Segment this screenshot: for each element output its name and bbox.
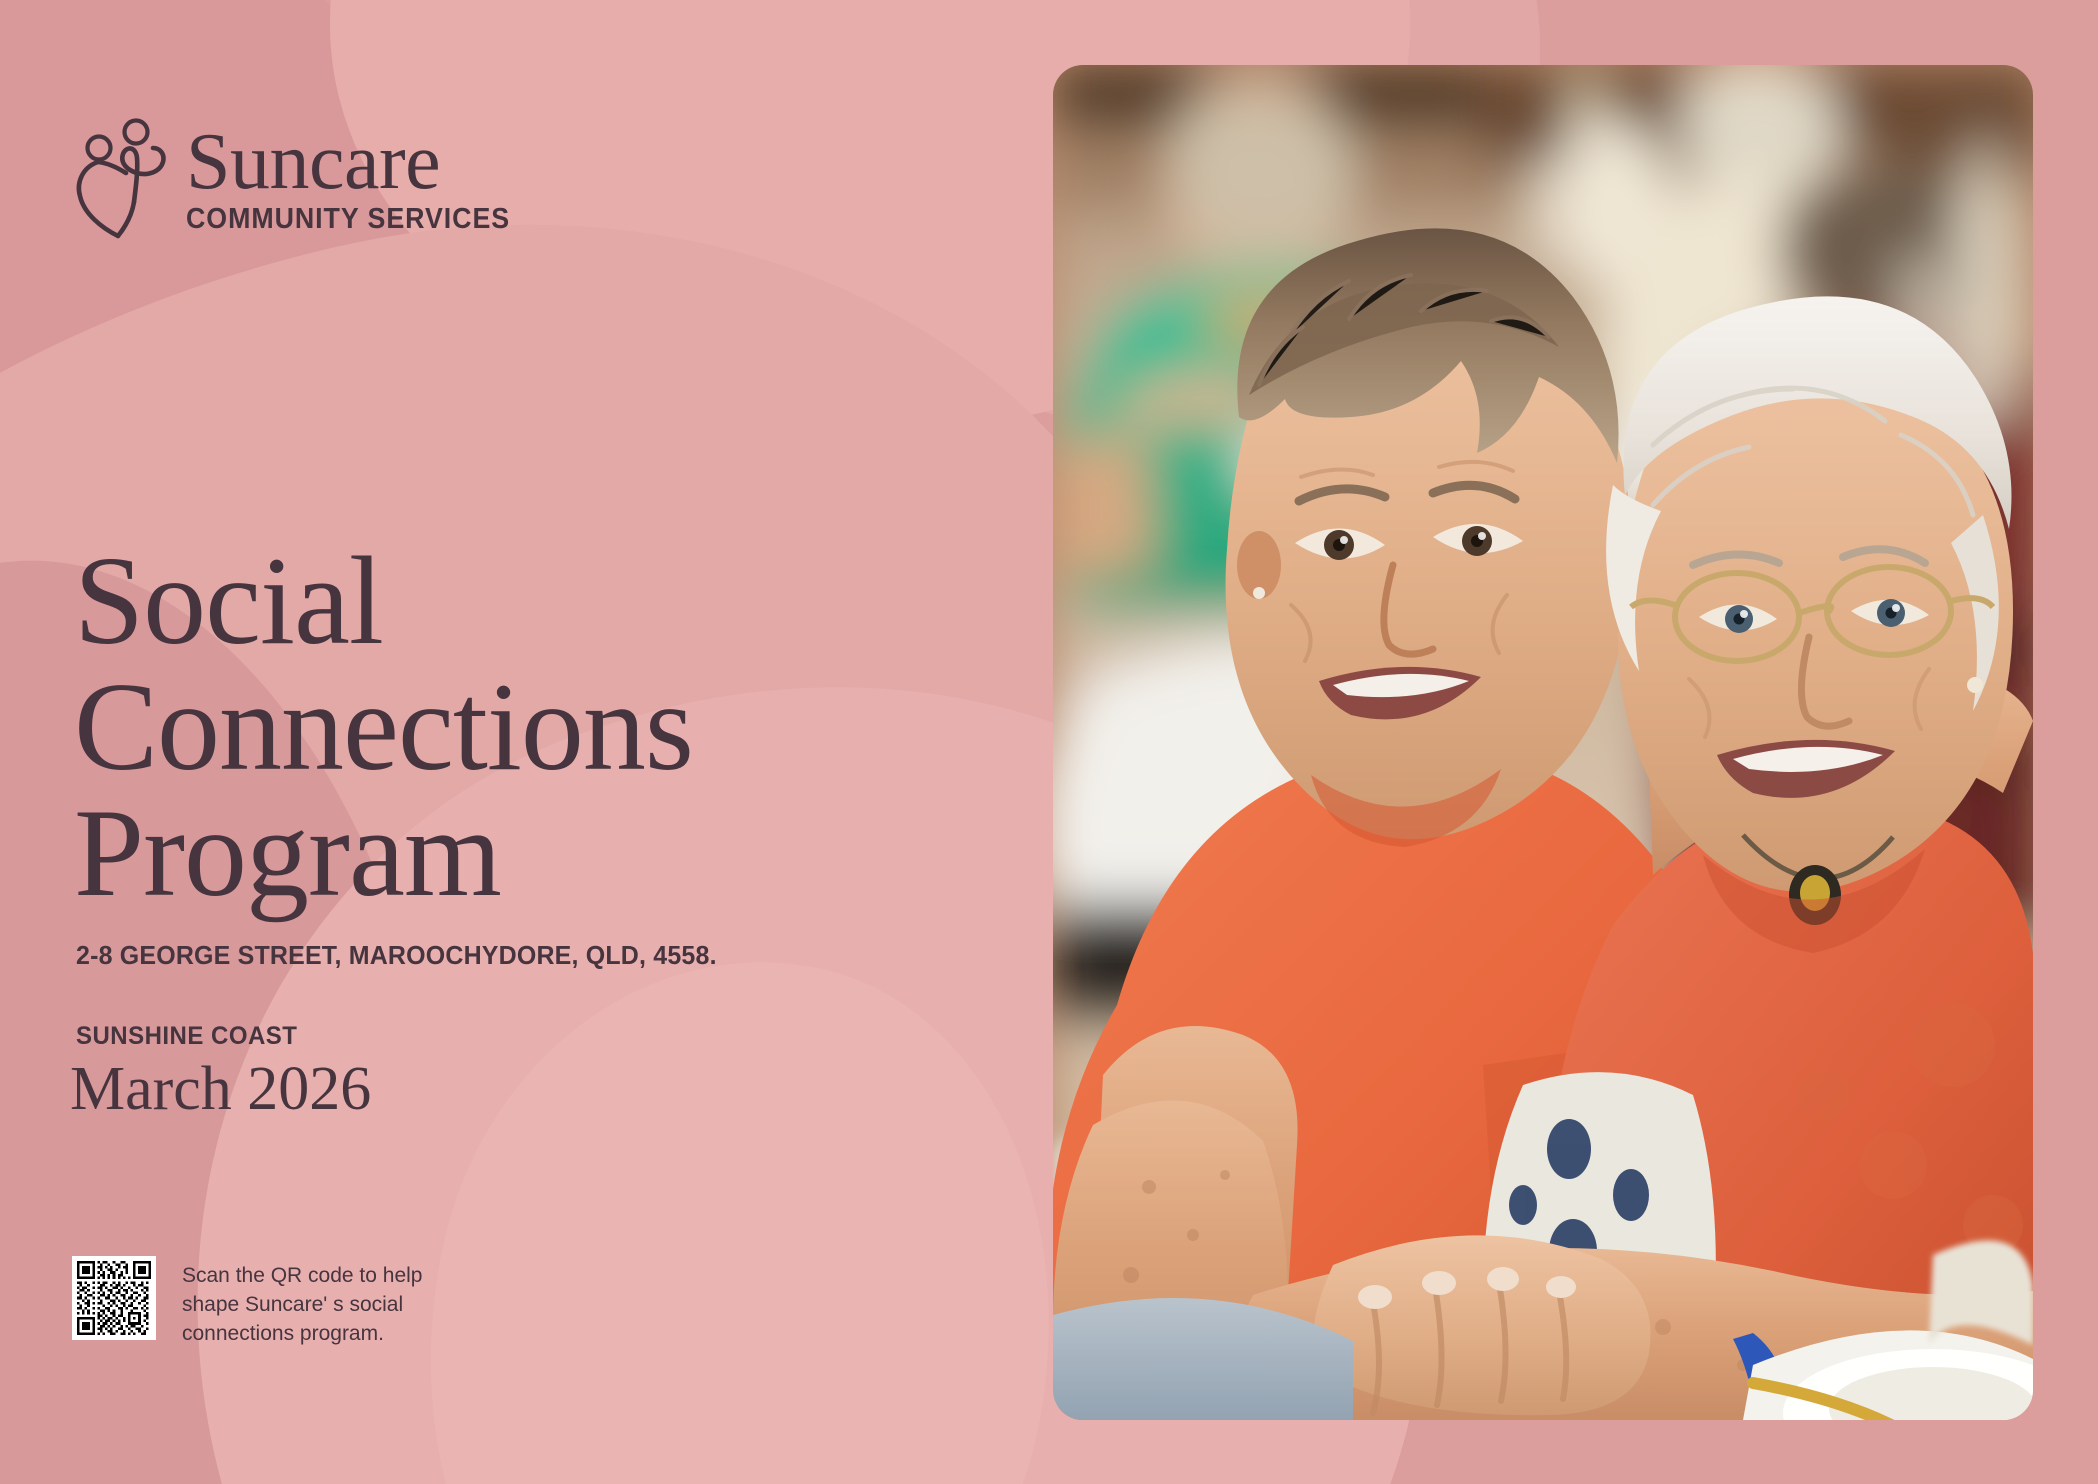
- page-title-line-2: Connections: [74, 665, 904, 791]
- qr-code-block[interactable]: Scan the QR code to help shape Suncare' …: [72, 1256, 432, 1349]
- page-title: Social Connections Program: [74, 539, 904, 917]
- qr-code-icon[interactable]: [72, 1256, 156, 1340]
- suncare-tagline: COMMUNITY SERVICES: [186, 203, 510, 236]
- page-title-line-3: Program: [74, 791, 904, 917]
- hero-photo: [1053, 65, 2033, 1420]
- suncare-figures-heart-logo-icon: [74, 118, 170, 240]
- qr-caption: Scan the QR code to help shape Suncare' …: [182, 1262, 432, 1349]
- suncare-logo-text: Suncare COMMUNITY SERVICES: [186, 126, 531, 236]
- left-content-column: Suncare COMMUNITY SERVICES Social Connec…: [0, 0, 980, 1484]
- page-title-line-1: Social: [74, 539, 904, 665]
- suncare-logo: Suncare COMMUNITY SERVICES: [74, 118, 531, 240]
- social-connections-program-poster: Suncare COMMUNITY SERVICES Social Connec…: [0, 0, 2098, 1484]
- region-label: SUNSHINE COAST: [76, 1022, 297, 1051]
- venue-address: 2-8 GEORGE STREET, MAROOCHYDORE, QLD, 45…: [76, 940, 717, 971]
- suncare-wordmark: Suncare: [186, 126, 531, 200]
- program-month: March 2026: [70, 1052, 371, 1126]
